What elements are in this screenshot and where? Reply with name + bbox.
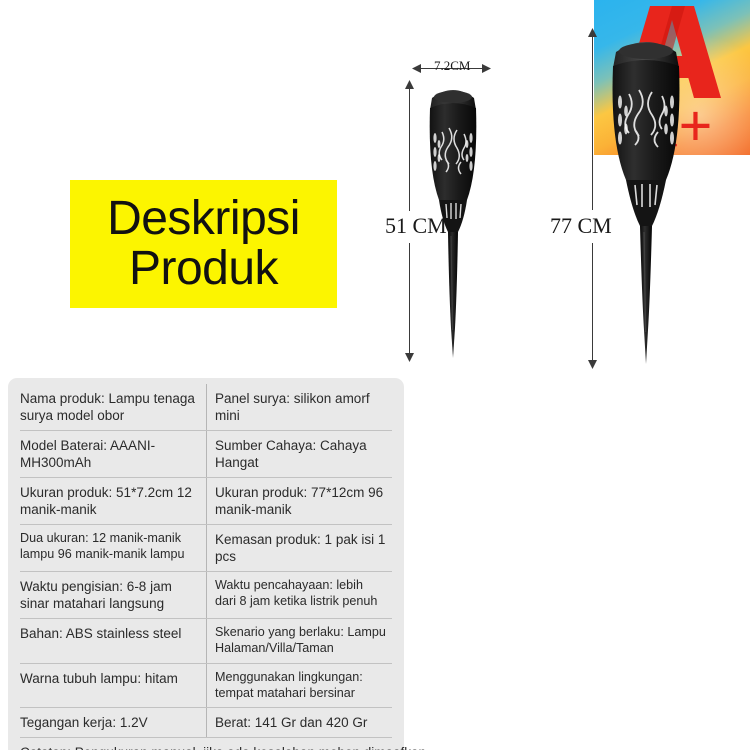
spec-cell-left: Warna tubuh lampu: hitam: [20, 664, 207, 708]
spec-cell-left: Nama produk: Lampu tenaga surya model ob…: [20, 384, 207, 430]
measurement-note: Catatan: Pengukuran manual, jika ada kes…: [20, 738, 392, 750]
spec-cell-right: Ukuran produk: 77*12cm 96 manik-manik: [207, 478, 392, 524]
height2-arrow-up-icon: [587, 28, 598, 38]
spec-cell-right: Sumber Cahaya: Cahaya Hangat: [207, 431, 392, 477]
spec-cell-right: Menggunakan lingkungan: tempat matahari …: [207, 664, 392, 708]
spec-cell-left: Model Baterai: AAANI-MH300mAh: [20, 431, 207, 477]
spec-cell-right: Waktu pencahayaan: lebih dari 8 jam keti…: [207, 572, 392, 618]
spec-cell-right: Panel surya: silikon amorf mini: [207, 384, 392, 430]
table-row: Nama produk: Lampu tenaga surya model ob…: [20, 384, 392, 430]
height2-arrow-down-icon: [587, 359, 598, 369]
spec-cell-left: Ukuran produk: 51*7.2cm 12 manik-manik: [20, 478, 207, 524]
table-row: Waktu pengisian: 6-8 jam sinar matahari …: [20, 571, 392, 618]
table-note-row: Catatan: Pengukuran manual, jika ada kes…: [20, 737, 392, 750]
spec-cell-left: Waktu pengisian: 6-8 jam sinar matahari …: [20, 572, 207, 618]
table-row: Dua ukuran: 12 manik-manik lampu 96 mani…: [20, 524, 392, 571]
table-row: Ukuran produk: 51*7.2cm 12 manik-manik U…: [20, 477, 392, 524]
large-figure-area: 77 CM: [0, 0, 750, 380]
spec-cell-left: Tegangan kerja: 1.2V: [20, 708, 207, 737]
table-row: Bahan: ABS stainless steel Skenario yang…: [20, 618, 392, 663]
table-row: Tegangan kerja: 1.2V Berat: 141 Gr dan 4…: [20, 707, 392, 737]
height2-dimension-line-lower: [592, 243, 593, 365]
height2-dimension-line-upper: [592, 32, 593, 210]
spec-cell-right: Berat: 141 Gr dan 420 Gr: [207, 708, 392, 737]
spec-cell-right: Kemasan produk: 1 pak isi 1 pcs: [207, 525, 392, 571]
table-row: Model Baterai: AAANI-MH300mAh Sumber Cah…: [20, 430, 392, 477]
spec-cell-left: Dua ukuran: 12 manik-manik lampu 96 mani…: [20, 525, 207, 571]
product-description-page: Deskripsi Produk A+ 7.2CM 51 CM: [0, 0, 750, 750]
specification-table: Nama produk: Lampu tenaga surya model ob…: [8, 378, 404, 750]
spec-cell-left: Bahan: ABS stainless steel: [20, 619, 207, 663]
spec-cell-right: Skenario yang berlaku: Lampu Halaman/Vil…: [207, 619, 392, 663]
large-torch-lamp-image: [600, 30, 692, 368]
table-row: Warna tubuh lampu: hitam Menggunakan lin…: [20, 663, 392, 708]
